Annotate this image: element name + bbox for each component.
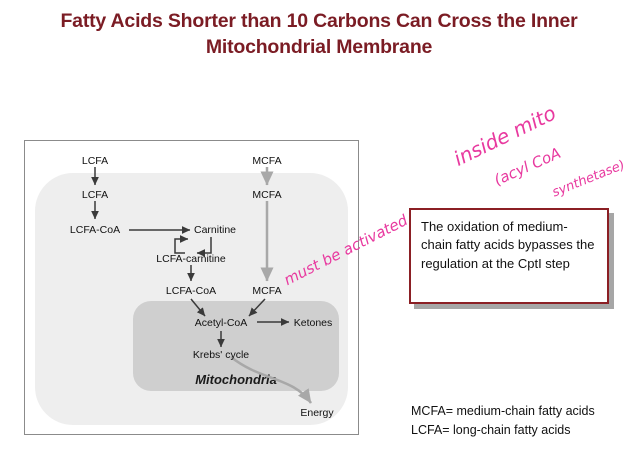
legend-line-lcfa: LCFA= long-chain fatty acids — [411, 421, 595, 440]
node-carnitine: Carnitine — [194, 224, 236, 236]
node-lcfa-out: LCFA — [82, 155, 108, 167]
slide-canvas: Fatty Acids Shorter than 10 Carbons Can … — [0, 0, 637, 451]
node-lcfa-coa-cyto: LCFA-CoA — [70, 224, 120, 236]
node-lcfa-carnitine: LCFA-carnitine — [156, 253, 225, 265]
callout-box: The oxidation of medium-chain fatty acid… — [409, 208, 609, 304]
callout-text: The oxidation of medium-chain fatty acid… — [421, 218, 597, 273]
node-lcfa-coa-matrix: LCFA-CoA — [166, 285, 216, 297]
node-mcfa-cyto: MCFA — [252, 189, 281, 201]
node-krebs-cycle: Krebs' cycle — [193, 349, 249, 361]
pathway-diagram: Mitochondria — [24, 140, 359, 435]
node-energy: Energy — [300, 407, 333, 419]
page-title: Fatty Acids Shorter than 10 Carbons Can … — [14, 8, 624, 61]
node-ketones: Ketones — [294, 317, 333, 329]
legend: MCFA= medium-chain fatty acids LCFA= lon… — [411, 402, 595, 441]
node-acetyl-coa: Acetyl-CoA — [195, 317, 248, 329]
node-mcfa-out: MCFA — [252, 155, 281, 167]
annotation-acyl-coa: (acyl CoA — [491, 144, 563, 189]
node-lcfa-cyto: LCFA — [82, 189, 108, 201]
annotation-synthetase: synthetase) — [550, 158, 627, 201]
node-mcfa-matrix: MCFA — [252, 285, 281, 297]
legend-line-mcfa: MCFA= medium-chain fatty acids — [411, 402, 595, 421]
